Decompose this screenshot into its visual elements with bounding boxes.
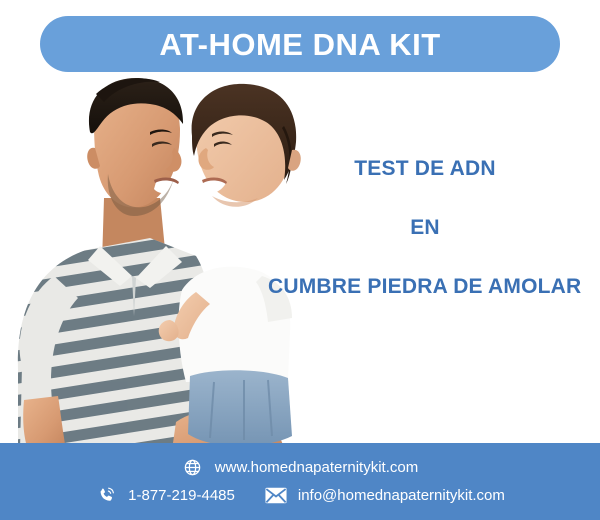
headline-line-2: EN [250,217,600,238]
header-pill: AT-HOME DNA KIT [40,16,560,72]
promo-banner: AT-HOME DNA KIT TEST DE ADN EN CUMBRE PI… [0,0,600,520]
headline-line-3: CUMBRE PIEDRA DE AMOLAR [268,276,600,297]
website-item[interactable]: www.homednapaternitykit.com [182,457,418,479]
footer-row-website: www.homednapaternitykit.com [182,457,418,479]
email-item[interactable]: info@homednapaternitykit.com [265,485,505,507]
globe-icon [182,457,204,479]
footer-row-phone-email: 1-877-219-4485 info@homednapaternitykit.… [95,485,505,507]
phone-icon [95,485,117,507]
footer-contact-bar: www.homednapaternitykit.com 1-877-219-44… [0,443,600,520]
website-text: www.homednapaternitykit.com [215,460,418,475]
phone-text: 1-877-219-4485 [128,488,235,503]
email-text: info@homednapaternitykit.com [298,488,505,503]
headline-line-1: TEST DE ADN [250,158,600,179]
phone-item[interactable]: 1-877-219-4485 [95,485,235,507]
headline-block: TEST DE ADN EN CUMBRE PIEDRA DE AMOLAR [250,158,600,297]
banner-title: AT-HOME DNA KIT [159,29,440,60]
envelope-icon [265,485,287,507]
